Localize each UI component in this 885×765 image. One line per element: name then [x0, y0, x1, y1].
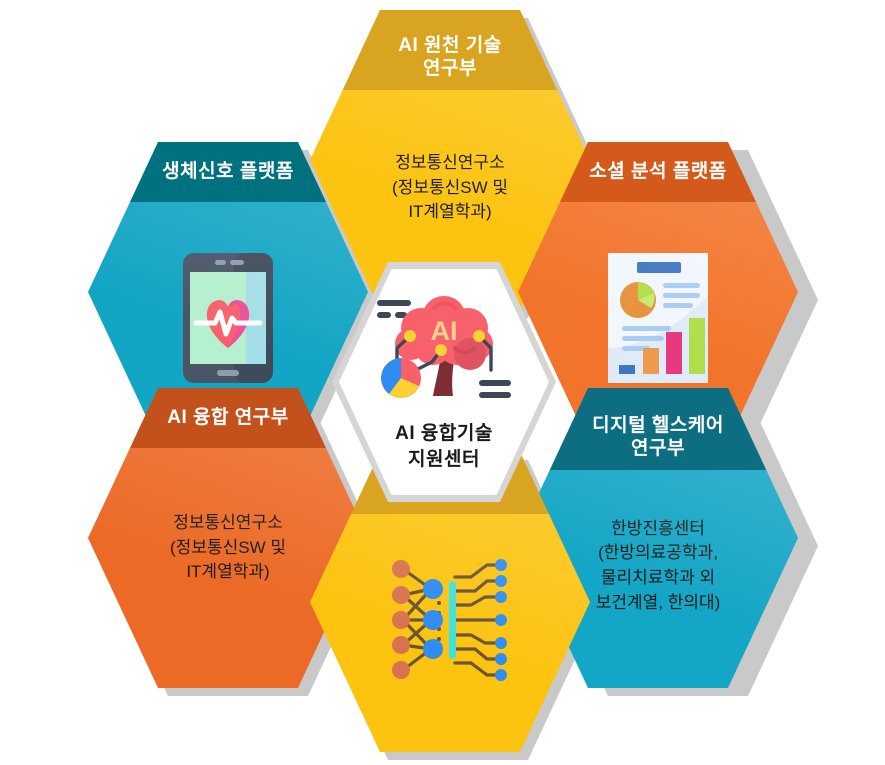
hexagon-diagram: AI 원천 기술 연구부 정보통신연구소 (정보통신SW 및 IT계열학과) 생… — [0, 0, 885, 765]
report-chart-document-icon — [607, 252, 709, 391]
hex-body-line-3: 물리치료학과 외 — [596, 566, 721, 591]
center-node-inner: AI — [339, 269, 549, 495]
hex-header-line1: 소셜 분석 플랫폼 — [589, 160, 726, 183]
hex-body-line-1: 정보통신연구소 — [170, 511, 286, 536]
hex-header-line1: AI 원천 기술 — [398, 34, 501, 57]
hex-body-line-2: (한방의료공학과, — [596, 541, 721, 566]
hex-header-ai-source-tech-dept: AI 원천 기술 연구부 — [310, 10, 590, 90]
smartphone-heartbeat-icon — [182, 252, 274, 391]
hex-header-line1: 디지털 헬스케어 — [592, 414, 724, 437]
center-node-label: AI 융합기술 지원센터 — [395, 421, 493, 472]
hex-header-line1: AI 융합 연구부 — [167, 406, 288, 429]
center-label-line2: 지원센터 — [395, 447, 493, 473]
hex-header-line2: 연구부 — [592, 437, 724, 460]
hex-body-line-3: IT계열학과) — [170, 560, 286, 585]
hex-header-line2: 연구부 — [398, 57, 501, 80]
ai-brain-icon: AI — [375, 292, 513, 417]
hex-body-line-4: 보건계열, 한의대) — [596, 591, 721, 616]
hex-body-line-2: (정보통신SW 및 — [170, 536, 286, 561]
hex-header-line1: 생체신호 플랫폼 — [162, 160, 294, 183]
hex-body-line-3: IT계열학과) — [392, 200, 508, 225]
neural-network-icon — [387, 557, 513, 690]
ai-brain-icon-text: AI — [431, 316, 458, 346]
center-label-line1: AI 융합기술 — [395, 421, 493, 447]
hex-body-line-2: (정보통신SW 및 — [392, 176, 508, 201]
hex-body-line-1: 한방진흥센터 — [596, 517, 721, 542]
hex-body-line-1: 정보통신연구소 — [392, 151, 508, 176]
